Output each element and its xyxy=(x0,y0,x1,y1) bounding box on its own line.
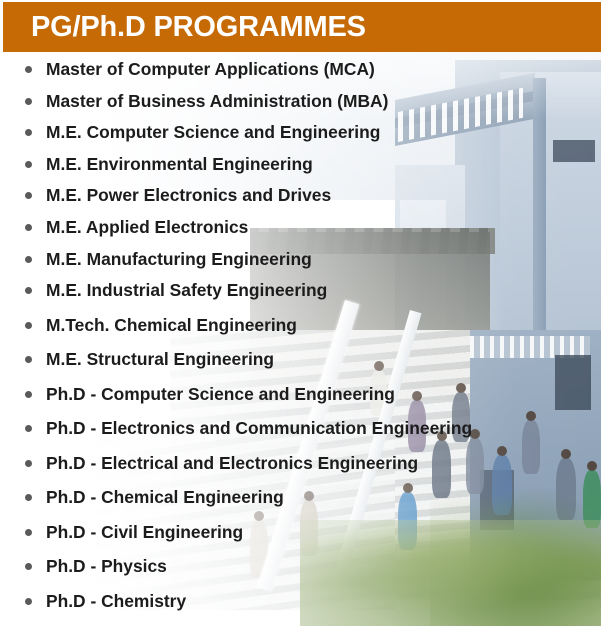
list-item-label: Ph.D - Electrical and Electronics Engine… xyxy=(46,453,418,473)
list-item: M.E. Computer Science and Engineering xyxy=(0,121,601,143)
page-title: PG/Ph.D PROGRAMMES xyxy=(31,9,366,45)
list-item-label: M.E. Manufacturing Engineering xyxy=(46,249,312,269)
list-item: M.E. Industrial Safety Engineering xyxy=(0,279,601,301)
bullet-icon xyxy=(25,563,32,570)
list-item-label: Ph.D - Chemistry xyxy=(46,591,186,611)
bullet-icon xyxy=(25,129,32,136)
list-item-label: Master of Business Administration (MBA) xyxy=(46,91,388,111)
bullet-icon xyxy=(25,460,32,467)
list-item: M.E. Environmental Engineering xyxy=(0,153,601,175)
bullet-icon xyxy=(25,322,32,329)
list-item-label: M.Tech. Chemical Engineering xyxy=(46,315,297,335)
programme-list: Master of Computer Applications (MCA)Mas… xyxy=(0,58,601,624)
list-item-label: Ph.D - Chemical Engineering xyxy=(46,487,284,507)
bullet-icon xyxy=(25,391,32,398)
list-item: Ph.D - Civil Engineering xyxy=(0,521,601,543)
list-item: M.E. Manufacturing Engineering xyxy=(0,248,601,270)
list-item: Master of Computer Applications (MCA) xyxy=(0,58,601,80)
list-item-label: Ph.D - Electronics and Communication Eng… xyxy=(46,418,472,438)
list-item: Ph.D - Physics xyxy=(0,555,601,577)
list-item: Ph.D - Electrical and Electronics Engine… xyxy=(0,452,601,474)
bullet-icon xyxy=(25,494,32,501)
header-bar: PG/Ph.D PROGRAMMES xyxy=(3,2,601,52)
list-item: Ph.D - Chemical Engineering xyxy=(0,486,601,508)
list-item: M.E. Applied Electronics xyxy=(0,216,601,238)
list-item-label: M.E. Power Electronics and Drives xyxy=(46,185,331,205)
list-item-label: M.E. Computer Science and Engineering xyxy=(46,122,380,142)
list-item: M.E. Power Electronics and Drives xyxy=(0,184,601,206)
bullet-icon xyxy=(25,425,32,432)
bullet-icon xyxy=(25,66,32,73)
list-item-label: Ph.D - Civil Engineering xyxy=(46,522,243,542)
list-item-label: Master of Computer Applications (MCA) xyxy=(46,59,375,79)
bullet-icon xyxy=(25,161,32,168)
pg-phd-programmes-poster: PG/Ph.D PROGRAMMES Master of Computer Ap… xyxy=(0,0,601,626)
list-item: Ph.D - Electronics and Communication Eng… xyxy=(0,417,601,439)
bullet-icon xyxy=(25,356,32,363)
list-item-label: M.E. Environmental Engineering xyxy=(46,154,313,174)
list-item-label: M.E. Applied Electronics xyxy=(46,217,248,237)
bullet-icon xyxy=(25,224,32,231)
list-item-label: Ph.D - Physics xyxy=(46,556,167,576)
bullet-icon xyxy=(25,287,32,294)
list-item-label: M.E. Industrial Safety Engineering xyxy=(46,280,327,300)
list-item-label: M.E. Structural Engineering xyxy=(46,349,274,369)
bullet-icon xyxy=(25,192,32,199)
list-item: Ph.D - Chemistry xyxy=(0,590,601,612)
list-item: M.Tech. Chemical Engineering xyxy=(0,314,601,336)
bullet-icon xyxy=(25,529,32,536)
list-item: Master of Business Administration (MBA) xyxy=(0,90,601,112)
bullet-icon xyxy=(25,98,32,105)
list-item: Ph.D - Computer Science and Engineering xyxy=(0,383,601,405)
list-item-label: Ph.D - Computer Science and Engineering xyxy=(46,384,395,404)
list-item: M.E. Structural Engineering xyxy=(0,348,601,370)
bullet-icon xyxy=(25,256,32,263)
bullet-icon xyxy=(25,598,32,605)
